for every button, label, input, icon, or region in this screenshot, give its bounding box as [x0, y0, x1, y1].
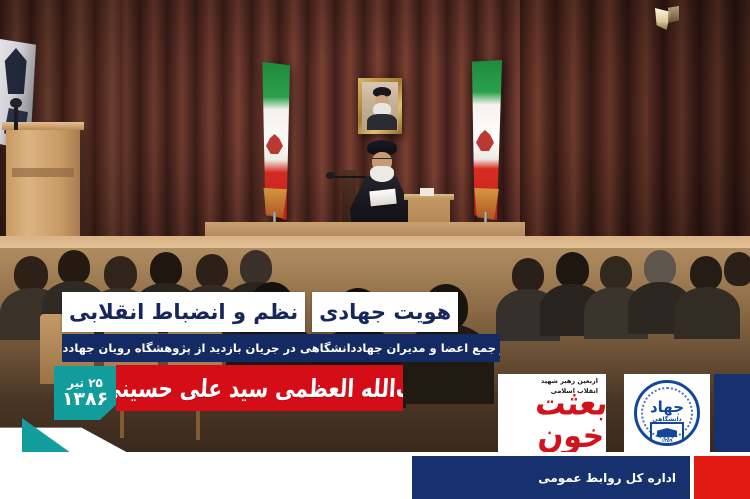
audience-head [150, 252, 182, 286]
iran-flag-right [470, 60, 502, 245]
poster-subtitle-text: بیانات در جمع اعضا و مدیران جهاددانشگاهی… [62, 341, 500, 355]
audience-head [104, 256, 137, 291]
audience-head [58, 250, 90, 284]
speaker-microphone-icon [326, 172, 335, 179]
logo-besat-khoon: اربعین رهبر شهید انقلاب اسلامی بعثت خون [498, 374, 606, 452]
title-box-identity: هویت جهادی [312, 292, 458, 332]
public-relations-text: اداره کل روابط عمومی [538, 471, 676, 485]
date-year: ۱۳۸۶ [62, 390, 108, 409]
speaker-glasses-icon [372, 158, 392, 162]
logo-jahad-daneshgahi: جهاد دانشگاهی ۱۳۵۹ [624, 374, 710, 452]
audience-head [600, 256, 632, 290]
poster-title-row: نظم و انضباط انقلابی هویت جهادی [62, 292, 314, 332]
audience-head [690, 256, 722, 290]
red-accent-strip [694, 456, 750, 499]
navy-accent-block [714, 374, 750, 452]
title-text-discipline: نظم و انضباط انقلابی [69, 300, 298, 324]
leader-name-calligraphy: حضرت آیت‌الله العظمی سید علی حسینی خامنه… [116, 373, 403, 403]
wooden-podium [6, 126, 80, 238]
audience-head [512, 258, 544, 292]
poster-canvas: نظم و انضباط انقلابی هویت جهادی بیانات د… [0, 0, 750, 499]
side-table-object [420, 188, 434, 196]
date-badge: ۲۵ تیر ۱۳۸۶ [54, 366, 116, 420]
title-box-discipline: نظم و انضباط انقلابی [62, 292, 305, 332]
audience-head [196, 254, 228, 288]
iran-flag-left [260, 62, 290, 234]
public-relations-bar: اداره کل روابط عمومی [412, 456, 690, 499]
audience-head [556, 252, 589, 287]
title-text-identity: هویت جهادی [319, 300, 451, 324]
audience-shoulders [674, 287, 740, 339]
speaker-microphone-stand [330, 176, 366, 178]
jahad-logo-year: ۱۳۵۹ [662, 439, 673, 444]
podium-microphone-icon [10, 98, 22, 108]
podium-panel-groove [12, 168, 74, 177]
audience-head [14, 256, 48, 292]
portrait-image [362, 82, 398, 130]
wall-sconce-secondary-icon [668, 6, 679, 23]
speaker-papers [369, 189, 396, 207]
speaker-beard [370, 166, 394, 182]
jahad-logo-circle: جهاد دانشگاهی ۱۳۵۹ [634, 380, 700, 446]
poster-subtitle-band: بیانات در جمع اعضا و مدیران جهاددانشگاهی… [62, 334, 500, 362]
audience-head [240, 250, 272, 285]
besat-main-text: بعثت خون [498, 389, 606, 452]
framed-portrait [358, 78, 402, 134]
audience-head [724, 252, 750, 286]
portrait-robe [367, 114, 397, 130]
audience-head [644, 250, 676, 285]
leader-name-band: حضرت آیت‌الله العظمی سید علی حسینی خامنه… [116, 365, 403, 411]
